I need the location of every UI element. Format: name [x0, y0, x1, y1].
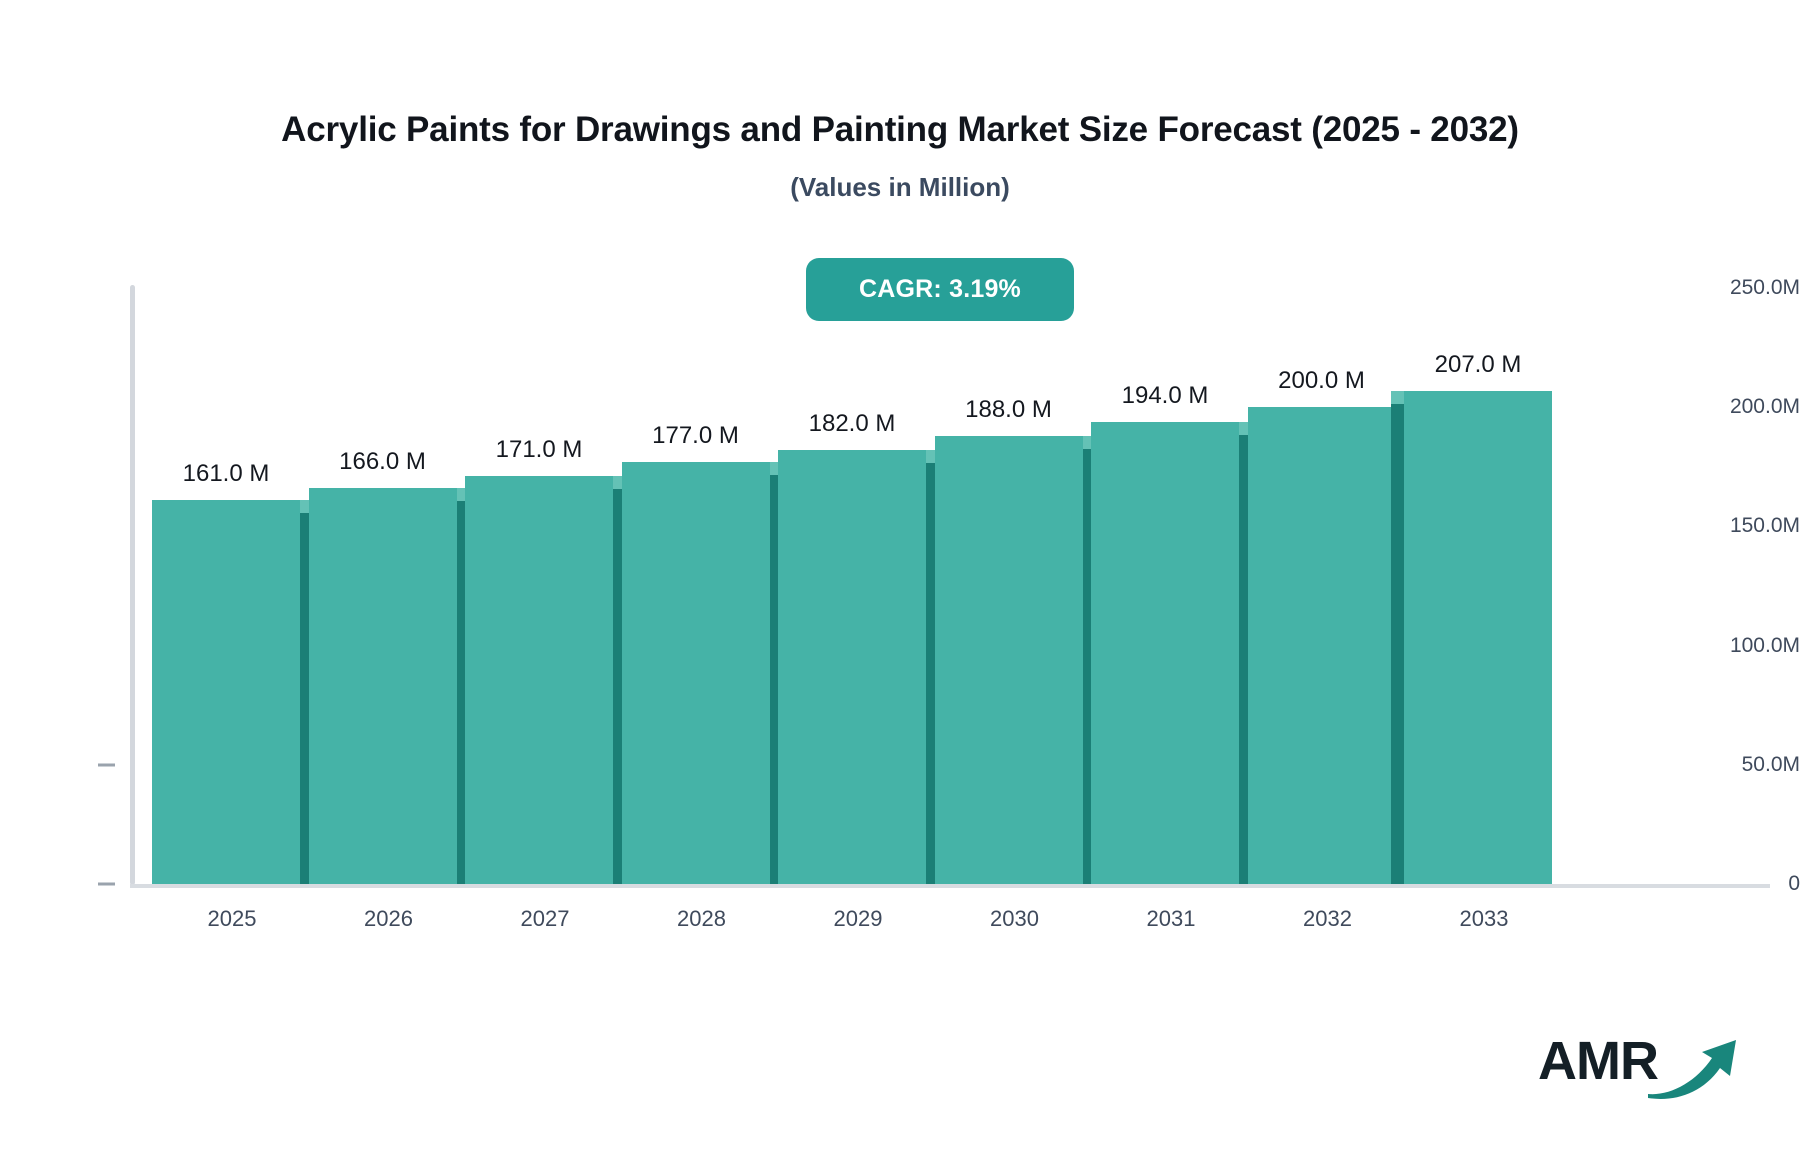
- y-axis-tick-label: 150.0M: [1680, 514, 1800, 538]
- x-axis-tick-label: 2030: [990, 906, 1039, 932]
- y-axis-tick-label: 0: [1680, 872, 1800, 896]
- bar-value-label: 171.0 M: [496, 436, 583, 464]
- bar-top-face: [1391, 391, 1404, 404]
- x-axis-tick-label: 2029: [834, 906, 883, 932]
- y-axis-line: [130, 285, 135, 885]
- y-axis-tick-mark: [98, 883, 115, 886]
- x-axis-tick-label: 2026: [364, 906, 413, 932]
- y-axis-tick-mark: [98, 763, 115, 766]
- bar-front-face[interactable]: [935, 436, 1083, 884]
- bar-front-face[interactable]: [309, 488, 457, 884]
- y-axis-tick-label: 50.0M: [1680, 753, 1800, 777]
- bar-front-face[interactable]: [778, 450, 926, 884]
- bar-chart-plot-area: 050.0M100.0M150.0M200.0M250.0M161.0 M202…: [0, 0, 1800, 1156]
- growth-arrow-icon: [1646, 1032, 1741, 1100]
- bar-front-face[interactable]: [1248, 407, 1396, 884]
- amr-logo: AMR: [1538, 1030, 1738, 1100]
- bar-value-label: 200.0 M: [1278, 367, 1365, 395]
- bar-front-face[interactable]: [1404, 391, 1552, 884]
- logo-text: AMR: [1538, 1030, 1658, 1092]
- bar-value-label: 161.0 M: [183, 460, 270, 488]
- bar-front-face[interactable]: [622, 462, 770, 884]
- x-axis-line: [130, 884, 1770, 888]
- x-axis-tick-label: 2033: [1460, 906, 1509, 932]
- bar-value-label: 194.0 M: [1122, 382, 1209, 410]
- x-axis-tick-label: 2031: [1147, 906, 1196, 932]
- x-axis-tick-label: 2025: [208, 906, 257, 932]
- bar-value-label: 188.0 M: [965, 396, 1052, 424]
- chart-page: Acrylic Paints for Drawings and Painting…: [0, 0, 1800, 1156]
- bar-front-face[interactable]: [465, 476, 613, 884]
- y-axis-tick-label: 250.0M: [1680, 276, 1800, 300]
- x-axis-tick-label: 2032: [1303, 906, 1352, 932]
- bar-value-label: 177.0 M: [652, 422, 739, 450]
- bar-side-face-left: [1391, 404, 1404, 884]
- x-axis-tick-label: 2028: [677, 906, 726, 932]
- x-axis-tick-label: 2027: [521, 906, 570, 932]
- y-axis-tick-label: 100.0M: [1680, 634, 1800, 658]
- y-axis-tick-label: 200.0M: [1680, 395, 1800, 419]
- bar-front-face[interactable]: [152, 500, 300, 884]
- bar-value-label: 207.0 M: [1435, 351, 1522, 379]
- bar-value-label: 182.0 M: [809, 410, 896, 438]
- bar-front-face[interactable]: [1091, 422, 1239, 884]
- bar-value-label: 166.0 M: [339, 448, 426, 476]
